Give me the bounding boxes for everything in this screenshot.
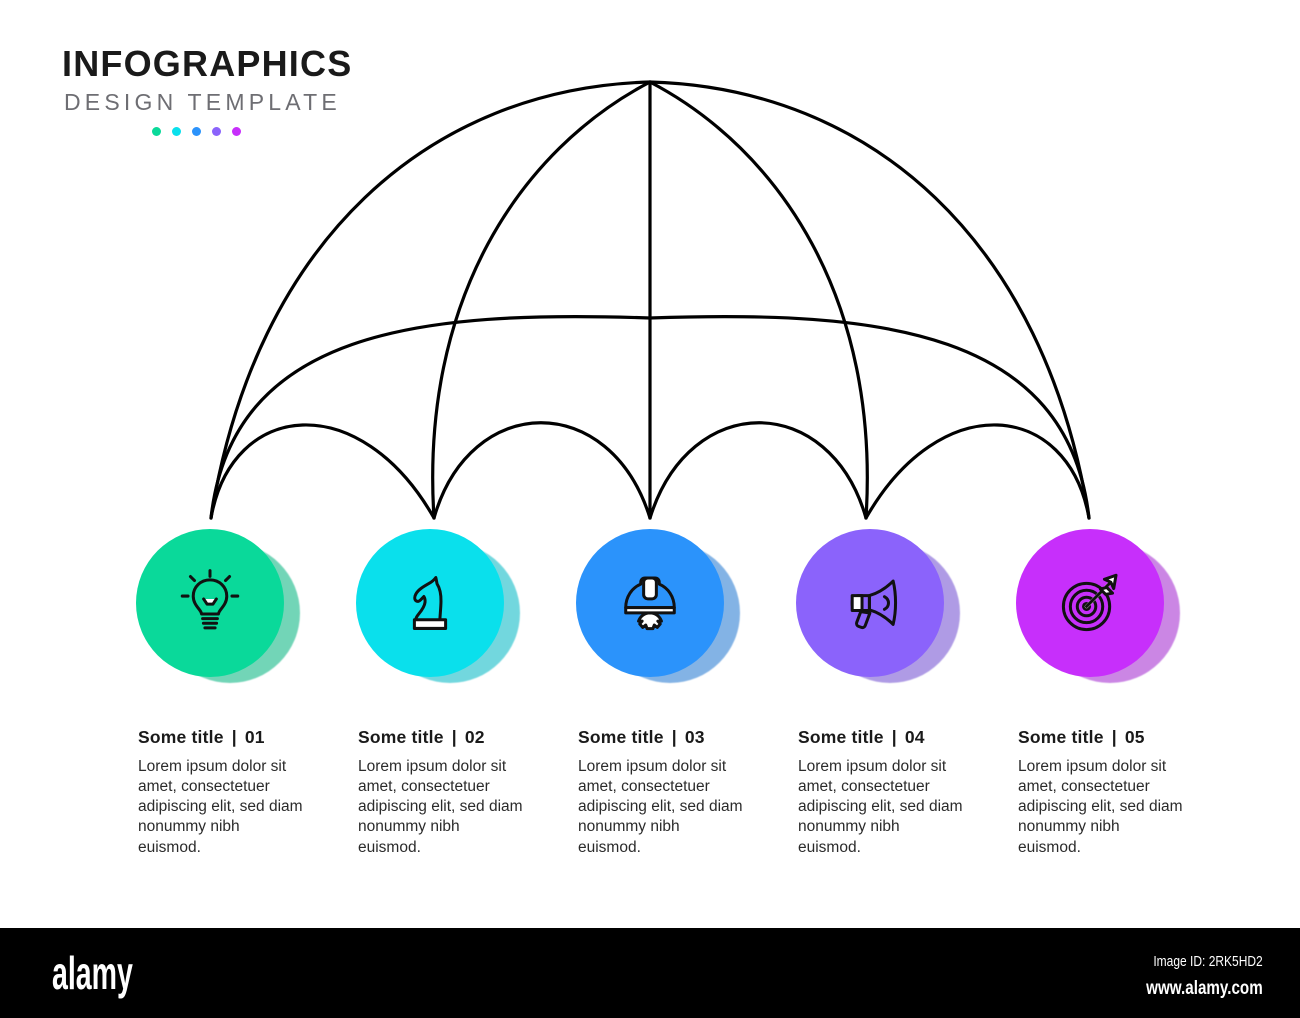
step-title-text: Some title (578, 727, 664, 747)
step-title-separator: | (1109, 727, 1120, 747)
step-description: Lorem ipsum dolor sit amet, consectetuer… (798, 757, 966, 858)
step-circle-wrap[interactable] (356, 525, 521, 675)
step-title: Some title | 04 (798, 727, 1008, 748)
step-number: 03 (685, 727, 705, 747)
step-title-text: Some title (358, 727, 444, 747)
step-title-separator: | (449, 727, 460, 747)
header: INFOGRAPHICS DESIGN TEMPLATE (62, 46, 392, 136)
page-title: INFOGRAPHICS (62, 46, 392, 82)
page-subtitle: DESIGN TEMPLATE (64, 91, 392, 114)
header-dot (232, 127, 241, 136)
header-dot-row (152, 127, 392, 136)
header-dot (212, 127, 221, 136)
step-circle-wrap[interactable] (136, 525, 301, 675)
step-number: 04 (905, 727, 925, 747)
step-item-05[interactable]: Some title | 05 Lorem ipsum dolor sit am… (1008, 525, 1228, 855)
canopy-scallop-3 (650, 423, 866, 518)
step-item-02[interactable]: Some title | 02 Lorem ipsum dolor sit am… (348, 525, 568, 855)
step-circle-wrap[interactable] (796, 525, 961, 675)
step-number: 02 (465, 727, 485, 747)
step-description: Lorem ipsum dolor sit amet, consectetuer… (578, 757, 746, 858)
canopy-scallop-1 (211, 425, 434, 518)
step-item-03[interactable]: Some title | 03 Lorem ipsum dolor sit am… (568, 525, 788, 855)
step-circle-wrap[interactable] (576, 525, 741, 675)
alamy-url-label: www.alamy.com (1146, 978, 1263, 1000)
rib-1 (433, 82, 650, 518)
step-title: Some title | 03 (578, 727, 788, 748)
step-circle[interactable] (1016, 529, 1164, 677)
canopy-scallop-4 (866, 425, 1089, 518)
image-id-label: Image ID: 2RK5HD2 (1154, 953, 1263, 970)
step-description: Lorem ipsum dolor sit amet, consectetuer… (138, 757, 306, 858)
step-circle[interactable] (796, 529, 944, 677)
step-description: Lorem ipsum dolor sit amet, consectetuer… (358, 757, 526, 858)
megaphone-icon (833, 566, 907, 640)
alamy-logo: alamy (52, 950, 133, 996)
step-circle-wrap[interactable] (1016, 525, 1181, 675)
step-title-separator: | (669, 727, 680, 747)
canopy-arc-upper-right (650, 317, 1089, 518)
step-title: Some title | 05 (1018, 727, 1228, 748)
header-dot (152, 127, 161, 136)
step-title: Some title | 01 (138, 727, 348, 748)
header-dot (172, 127, 181, 136)
chess-knight-icon (393, 566, 467, 640)
step-circle[interactable] (356, 529, 504, 677)
target-dart-icon (1053, 566, 1127, 640)
canopy-arc-upper-left (211, 317, 650, 518)
steps-row: Some title | 01 Lorem ipsum dolor sit am… (0, 525, 1300, 855)
umbrella-lines (211, 82, 1089, 518)
step-circle[interactable] (576, 529, 724, 677)
step-title-text: Some title (1018, 727, 1104, 747)
step-title-text: Some title (138, 727, 224, 747)
step-title-separator: | (889, 727, 900, 747)
step-number: 05 (1125, 727, 1145, 747)
hardhat-gear-icon (613, 566, 687, 640)
step-item-01[interactable]: Some title | 01 Lorem ipsum dolor sit am… (128, 525, 348, 855)
canopy-outer-right (650, 82, 1089, 518)
lightbulb-icon (173, 566, 247, 640)
canopy-scallop-2 (434, 423, 650, 518)
step-title-text: Some title (798, 727, 884, 747)
step-item-04[interactable]: Some title | 04 Lorem ipsum dolor sit am… (788, 525, 1008, 855)
canopy-outer-left (211, 82, 650, 518)
step-circle[interactable] (136, 529, 284, 677)
step-description: Lorem ipsum dolor sit amet, consectetuer… (1018, 757, 1186, 858)
rib-3 (650, 82, 867, 518)
step-title-separator: | (229, 727, 240, 747)
step-title: Some title | 02 (358, 727, 568, 748)
header-dot (192, 127, 201, 136)
watermark-bar: alamy Image ID: 2RK5HD2 www.alamy.com (0, 928, 1300, 1018)
step-number: 01 (245, 727, 265, 747)
